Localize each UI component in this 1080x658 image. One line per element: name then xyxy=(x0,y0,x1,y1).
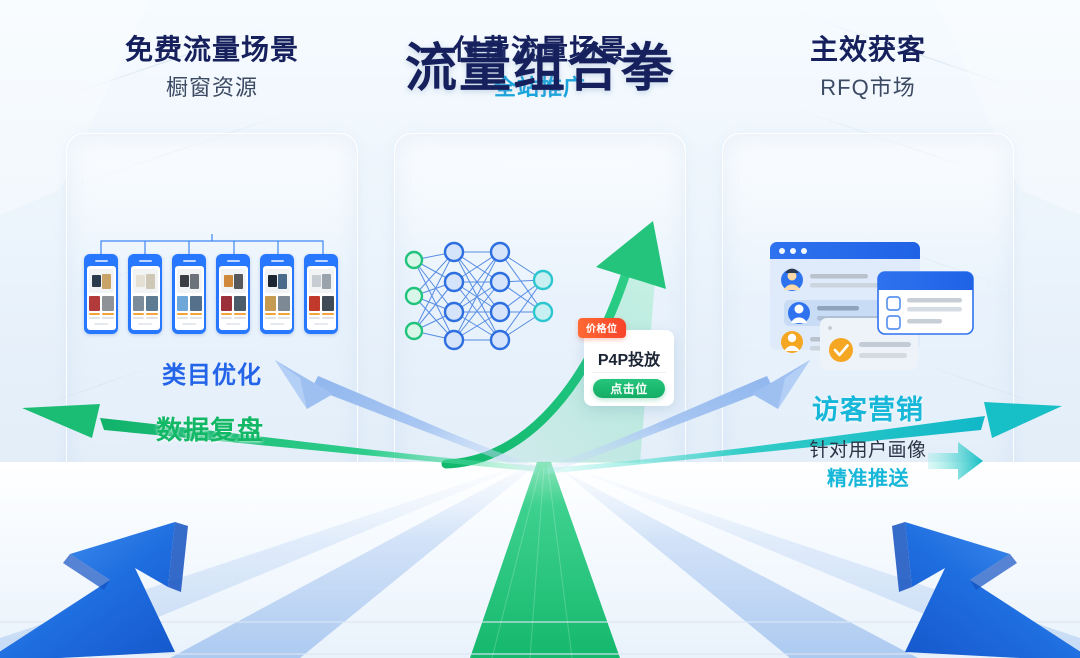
showcase-phone-6[interactable] xyxy=(304,254,338,334)
phone-screen xyxy=(219,266,248,330)
product-cell[interactable] xyxy=(89,296,101,319)
phone-hero-image xyxy=(265,269,290,293)
p4p-card[interactable]: 价格位 P4P投放 点击位 xyxy=(584,330,674,406)
phone-hero-image xyxy=(177,269,202,293)
product-cell[interactable] xyxy=(322,296,334,319)
phone-home-bar xyxy=(314,323,328,325)
product-cell[interactable] xyxy=(190,296,202,319)
phone-home-bar xyxy=(94,323,108,325)
showcase-phone-grid xyxy=(84,234,340,334)
phone-hero-image xyxy=(309,269,334,293)
phone-product-cells xyxy=(89,296,114,319)
label-visitor-marketing: 访客营销 xyxy=(722,388,1014,427)
product-cell[interactable] xyxy=(309,296,321,319)
product-cell[interactable] xyxy=(146,296,158,319)
product-cell[interactable] xyxy=(133,296,145,319)
product-cell[interactable] xyxy=(221,296,233,319)
phone-home-bar xyxy=(226,323,240,325)
showcase-phone-3[interactable] xyxy=(172,254,206,334)
phone-screen xyxy=(175,266,204,330)
phone-home-bar xyxy=(138,323,152,325)
product-cell[interactable] xyxy=(177,296,189,319)
phone-product-cells xyxy=(221,296,246,319)
page-title: 流量组合拳 xyxy=(0,26,1080,101)
p4p-card-title: P4P投放 xyxy=(584,346,674,370)
product-cell[interactable] xyxy=(234,296,246,319)
showcase-phone-2[interactable] xyxy=(128,254,162,334)
phone-notch xyxy=(183,260,196,262)
phone-hero-image xyxy=(221,269,246,293)
phone-notch xyxy=(227,260,240,262)
phone-screen xyxy=(307,266,336,330)
rfq-market-mockup xyxy=(754,232,984,377)
phone-hero-image xyxy=(89,269,114,293)
tree-connector xyxy=(84,234,340,256)
phone-product-cells xyxy=(309,296,334,319)
product-cell[interactable] xyxy=(278,296,290,319)
phone-home-bar xyxy=(270,323,284,325)
phone-screen xyxy=(87,266,116,330)
neural-network-diagram xyxy=(400,236,560,354)
product-cell[interactable] xyxy=(102,296,114,319)
label-data-review: 数据复盘 xyxy=(80,410,340,447)
card-divider xyxy=(592,372,666,373)
phone-notch xyxy=(271,260,284,262)
phone-notch xyxy=(139,260,152,262)
product-cell[interactable] xyxy=(265,296,277,319)
phone-screen xyxy=(263,266,292,330)
phone-notch xyxy=(95,260,108,262)
phone-hero-image xyxy=(133,269,158,293)
phone-product-cells xyxy=(265,296,290,319)
infographic-stage: 流量组合拳 免费流量场景 橱窗资源 类目优化 数据复盘 付费流量场景 全站推广 xyxy=(0,0,1080,658)
phone-product-cells xyxy=(133,296,158,319)
phone-product-cells xyxy=(177,296,202,319)
price-slot-badge: 价格位 xyxy=(578,318,626,338)
phone-screen xyxy=(131,266,160,330)
checklist-dialog xyxy=(878,272,973,334)
showcase-phone-4[interactable] xyxy=(216,254,250,334)
showcase-phone-1[interactable] xyxy=(84,254,118,334)
showcase-phone-5[interactable] xyxy=(260,254,294,334)
phone-notch xyxy=(315,260,328,262)
label-category-optimization: 类目优化 xyxy=(66,355,358,390)
click-slot-button[interactable]: 点击位 xyxy=(593,379,665,398)
arrow-right-teal xyxy=(928,440,984,482)
phone-home-bar xyxy=(182,323,196,325)
